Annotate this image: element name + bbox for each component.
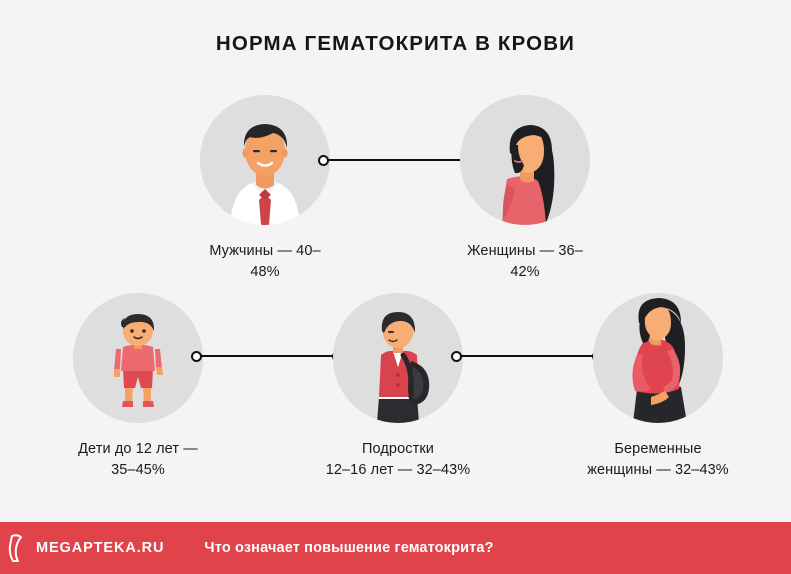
connector-line (328, 159, 461, 162)
connector-men-women (318, 153, 471, 167)
woman-avatar-icon (460, 95, 590, 225)
child-avatar (73, 293, 203, 423)
connector-children-teens (191, 349, 343, 363)
infographic-canvas: НОРМА ГЕМАТОКРИТА В КРОВИ (0, 0, 791, 574)
group-men: Мужчины — 40–48% (200, 95, 330, 283)
group-children: Дети до 12 лет — 35–45% (73, 293, 203, 481)
pregnant-woman-avatar-icon (593, 293, 723, 423)
footer-question-link[interactable]: Что означает повышение гематокрита? (204, 540, 493, 556)
connector-teens-pregnant (451, 349, 603, 363)
teenager-avatar-icon (333, 293, 463, 423)
footer-bar: MEGAPTEKA.RU Что означает повышение гема… (0, 522, 791, 574)
connector-line (201, 355, 333, 358)
man-avatar (200, 95, 330, 225)
site-logo[interactable]: MEGAPTEKA.RU (6, 533, 164, 563)
group-pregnant: Беременные женщины — 32–43% (593, 293, 723, 481)
group-pregnant-label: Беременные женщины — 32–43% (558, 439, 758, 481)
page-title: НОРМА ГЕМАТОКРИТА В КРОВИ (0, 32, 791, 56)
group-men-label: Мужчины — 40–48% (200, 241, 330, 283)
child-avatar-icon (73, 293, 203, 423)
pregnant-woman-avatar (593, 293, 723, 423)
teenager-avatar (333, 293, 463, 423)
site-logo-text: MEGAPTEKA.RU (36, 540, 164, 556)
connector-line (461, 355, 593, 358)
group-women: Женщины — 36–42% (460, 95, 590, 283)
woman-avatar (460, 95, 590, 225)
group-teens-label: Подростки 12–16 лет — 32–43% (298, 439, 498, 481)
group-women-label: Женщины — 36–42% (460, 241, 590, 283)
man-avatar-icon (200, 95, 330, 225)
group-teens: Подростки 12–16 лет — 32–43% (333, 293, 463, 481)
group-children-label: Дети до 12 лет — 35–45% (38, 439, 238, 481)
mortar-pestle-icon (6, 533, 28, 563)
